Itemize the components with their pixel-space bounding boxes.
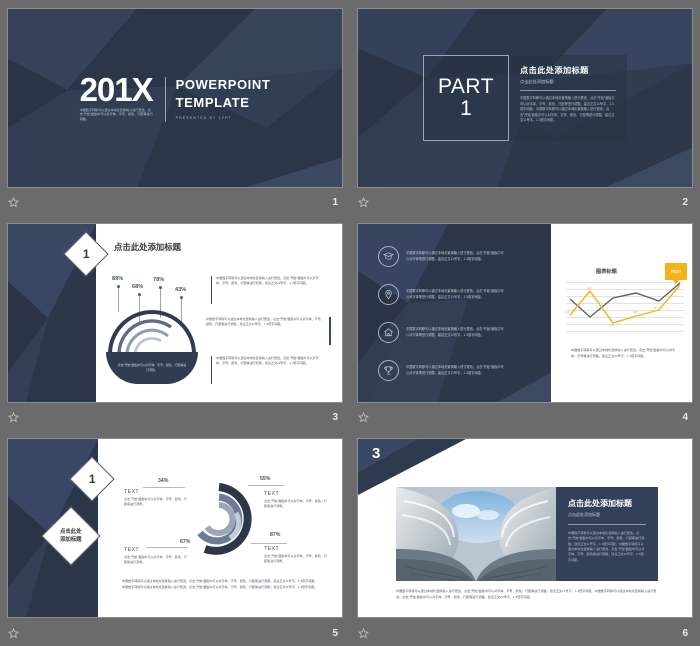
donut-callout-2: TEXT 点击“开始”面板中可以对字体、字号、颜色、行距等进行调整。 [124, 547, 190, 565]
slide-thumbnail-6[interactable]: 3 [357, 438, 693, 618]
thumbnail-footer-2: 2 [350, 190, 700, 215]
leader-line-0 [143, 487, 185, 488]
donut-callout-1: TEXT 点击“开始”面板中可以对字体、字号、颜色、行距等进行调整。 [264, 491, 330, 509]
slide-thumbnail-grid: 201X 中国数字转移可以通过本地化置换输入进行更改。点击“开始”面板中可以对字… [0, 0, 700, 646]
callout-label-3: TEXT [264, 546, 330, 552]
icon-list-text-0: 中国数字转移可以通过本地化置换输入进行更改。点击“开始”面板中可以对字体等进行调… [406, 251, 506, 262]
star-icon[interactable] [358, 628, 369, 639]
point-label-s2-0: 2.4 [565, 310, 569, 314]
callout-text-0: 点击“开始”面板中可以对字体、字号、颜色、行距等进行调整。 [124, 497, 190, 508]
donut-pct-1: 55% [260, 476, 270, 482]
accent-bar [328, 317, 331, 345]
point-label-s1-3: 2.8 [633, 310, 637, 314]
divider-rule [568, 524, 646, 525]
pct-label-0: 89% [112, 276, 123, 282]
thumbnail-footer-4: 4 [350, 405, 700, 430]
chart-caption: 中国数字转移可以通过本地化置换输入进行更改。点击“开始”面板中可以对字体、字号等… [571, 348, 679, 359]
stem-dot-1 [138, 293, 141, 296]
page-number-5: 5 [332, 628, 342, 639]
title-line-2: TEMPLATE [176, 94, 271, 112]
star-icon[interactable] [8, 197, 19, 208]
paragraph-2: 中国数字转移可以通过本地化置换输入进行更改。点击“开始”面板中可以对字体、字号、… [216, 356, 320, 384]
callout-label-0: TEXT [124, 489, 190, 495]
donut-callout-3: TEXT 点击“开始”面板中可以对字体、字号、颜色、行距等进行调整。 [264, 546, 330, 564]
accent-bar [210, 276, 212, 304]
star-icon[interactable] [8, 628, 19, 639]
part-label: PART [438, 76, 494, 97]
leader-line-3 [251, 543, 287, 544]
title-line-1: POWERPOINT [176, 76, 271, 94]
icon-list-text-1: 中国数字转移可以通过本地化置换输入进行更改。点击“开始”面板中可以对字体等进行调… [406, 289, 506, 300]
thumbnail-footer-1: 1 [0, 190, 350, 215]
icon-list-text-2: 中国数字转移可以通过本地化置换输入进行更改。点击“开始”面板中可以对字体等进行调… [406, 327, 506, 338]
line-chart [566, 279, 684, 334]
thumbnail-footer-5: 5 [0, 621, 350, 646]
title-block: 201X 中国数字转移可以通过本地化置换输入进行更改。点击“开始”面板中可以对字… [8, 9, 342, 187]
icon-list-item-1[interactable]: 中国数字转移可以通过本地化置换输入进行更改。点击“开始”面板中可以对字体等进行调… [378, 284, 506, 305]
slide-footer-text: 中国数字转移可以通过本地化置换输入进行更改。点击“开始”面板中可以对字体、字号、… [396, 589, 658, 600]
location-pin-icon [378, 284, 399, 305]
star-icon[interactable] [358, 197, 369, 208]
year-text: 201X [80, 74, 156, 105]
pct-label-1: 68% [132, 284, 143, 290]
section-title: 点击此处添加标题 [520, 64, 616, 76]
donut-pct-0: 34% [158, 478, 168, 484]
slide-cell-2: PART 1 点击此处添加标题 点击此处添加标题 中国数字转移可以通过本地化置换… [350, 0, 700, 215]
pct-label-3: 43% [175, 287, 186, 293]
badge-label: TEXT [671, 269, 682, 274]
slide-cell-3: 1 点击此处添加标题 89% 68% 78% 43% [0, 215, 350, 430]
star-icon[interactable] [8, 412, 19, 423]
thumbnail-footer-3: 3 [0, 405, 350, 430]
section-text-panel: 点击此处添加标题 点击此处添加标题 中国数字转移可以通过本地化置换输入进行更改。… [509, 55, 627, 141]
slide-title: 点击此处添加标题 [114, 241, 181, 253]
page-number-4: 4 [682, 412, 692, 423]
icon-list-item-0[interactable]: 中国数字转移可以通过本地化置换输入进行更改。点击“开始”面板中可以对字体等进行调… [378, 246, 506, 267]
page-number-1: 1 [332, 197, 342, 208]
leader-line-1 [248, 485, 284, 486]
callout-label-2: TEXT [124, 547, 190, 553]
divider-rule [520, 90, 616, 91]
paragraph-1: 中国数字转移可以通过本地化置换输入进行更改。点击“开始”面板中可以对字体、字号、… [206, 317, 324, 345]
callout-text-2: 点击“开始”面板中可以对字体、字号、颜色、行距等进行调整。 [124, 555, 190, 566]
slide-cell-6: 3 [350, 430, 700, 646]
photo-text-panel: 点击此处添加标题 点击此处添加标题 中国数字转移可以通过本地化置换输入进行更改。… [556, 487, 658, 581]
callout-text-3: 点击“开始”面板中可以对字体、字号、颜色、行距等进行调整。 [264, 554, 330, 565]
trophy-icon [378, 360, 399, 381]
donut-pct-3: 87% [270, 532, 280, 538]
year-block: 201X 中国数字转移可以通过本地化置换输入进行更改。点击“开始”面板中可以对字… [80, 74, 165, 122]
slide-footer-text: 中国数字转移可以通过本地化置换输入进行更改。点击“开始”面板中可以对字体、字号、… [122, 579, 318, 590]
year-subtext: 中国数字转移可以通过本地化置换输入进行更改。点击“开始”面板中可以对字体、字号、… [80, 108, 156, 122]
home-icon [378, 322, 399, 343]
page-number-6: 6 [682, 628, 692, 639]
panel-subtitle: 点击此处添加标题 [568, 512, 646, 518]
slide-cell-1: 201X 中国数字转移可以通过本地化置换输入进行更改。点击“开始”面板中可以对字… [0, 0, 350, 215]
section-subtitle: 点击此处添加标题 [520, 79, 616, 85]
template-title-block: POWERPOINT TEMPLATE PRESENTED BY 1PPT [166, 74, 271, 120]
stem-dot-2 [159, 286, 162, 289]
graduation-cap-icon [378, 246, 399, 267]
donut-pct-2: 67% [180, 539, 190, 545]
part-number: 1 [460, 97, 472, 120]
star-icon[interactable] [358, 412, 369, 423]
section-content: PART 1 点击此处添加标题 点击此处添加标题 中国数字转移可以通过本地化置换… [358, 9, 692, 187]
point-label-s2-2: 1.6 [610, 323, 614, 327]
callout-label-1: TEXT [264, 491, 330, 497]
chart-title: 图表标题 [596, 268, 617, 275]
diamond-title-line-1: 点击此处 [60, 529, 82, 535]
stem-dot-3 [180, 296, 183, 299]
diamond-title-line-2: 添加标题 [60, 537, 82, 543]
text-callout-badge[interactable]: TEXT [665, 263, 687, 280]
part-box: PART 1 [423, 55, 509, 141]
accent-bar [210, 356, 212, 384]
thumbnail-footer-6: 6 [350, 621, 700, 646]
text-block-2: 中国数字转移可以通过本地化置换输入进行更改。点击“开始”面板中可以对字体、字号、… [210, 356, 320, 384]
point-label-s1-4: 3 [654, 306, 656, 310]
donut-callout-0: TEXT 点击“开始”面板中可以对字体、字号、颜色、行距等进行调整。 [124, 489, 190, 507]
paragraph-0: 中国数字转移可以通过本地化置换输入进行更改。点击“开始”面板中可以对字体、字号、… [216, 276, 320, 304]
chart-center-text: 点击“开始”面板中可以对字体、字号、颜色、行距等进行调整。 [117, 363, 187, 373]
page-number-3: 3 [332, 412, 342, 423]
slide-cell-4: 中国数字转移可以通过本地化置换输入进行更改。点击“开始”面板中可以对字体等进行调… [350, 215, 700, 430]
marker-number: 1 [89, 472, 96, 486]
stem-dot-0 [117, 285, 120, 288]
icon-list-item-3[interactable]: 中国数字转移可以通过本地化置换输入进行更改。点击“开始”面板中可以对字体等进行调… [378, 360, 506, 381]
page-number-2: 2 [682, 197, 692, 208]
panel-body: 中国数字转移可以通过本地化置换输入进行更改。点击“开始”面板中可以对字体、字号、… [568, 531, 646, 563]
slide-thumbnail-4[interactable]: 中国数字转移可以通过本地化置换输入进行更改。点击“开始”面板中可以对字体等进行调… [357, 223, 693, 403]
slide-thumbnail-2[interactable]: PART 1 点击此处添加标题 点击此处添加标题 中国数字转移可以通过本地化置换… [357, 8, 693, 188]
slide-cell-5: 1 点击此处 添加标题 34% 55% 67% [0, 430, 350, 646]
panel-title: 点击此处添加标题 [568, 498, 646, 509]
slide-thumbnail-5[interactable]: 1 点击此处 添加标题 34% 55% 67% [7, 438, 343, 618]
text-block-0: 中国数字转移可以通过本地化置换输入进行更改。点击“开始”面板中可以对字体、字号、… [210, 276, 320, 304]
text-block-1: 中国数字转移可以通过本地化置换输入进行更改。点击“开始”面板中可以对字体、字号、… [206, 317, 331, 345]
icon-list-item-2[interactable]: 中国数字转移可以通过本地化置换输入进行更改。点击“开始”面板中可以对字体等进行调… [378, 322, 506, 343]
multi-ring-donut-chart [183, 483, 255, 555]
presented-by-text: PRESENTED BY 1PPT [176, 116, 271, 120]
slide-thumbnail-3[interactable]: 1 点击此处添加标题 89% 68% 78% 43% [7, 223, 343, 403]
icon-list-text-3: 中国数字转移可以通过本地化置换输入进行更改。点击“开始”面板中可以对字体等进行调… [406, 365, 506, 376]
slide-thumbnail-1[interactable]: 201X 中国数字转移可以通过本地化置换输入进行更改。点击“开始”面板中可以对字… [7, 8, 343, 188]
semicircle-arc-chart [106, 308, 198, 356]
callout-text-1: 点击“开始”面板中可以对字体、字号、颜色、行距等进行调整。 [264, 499, 330, 510]
point-label-s2-1: 4.4 [587, 286, 591, 290]
marker-number: 1 [83, 247, 90, 261]
architecture-photo [396, 487, 556, 581]
pct-label-2: 78% [153, 277, 164, 283]
section-body: 中国数字转移可以通过本地化置换输入进行更改。点击“开始”面板中可以对字体、字号、… [520, 96, 616, 124]
marker-number: 3 [372, 445, 380, 462]
